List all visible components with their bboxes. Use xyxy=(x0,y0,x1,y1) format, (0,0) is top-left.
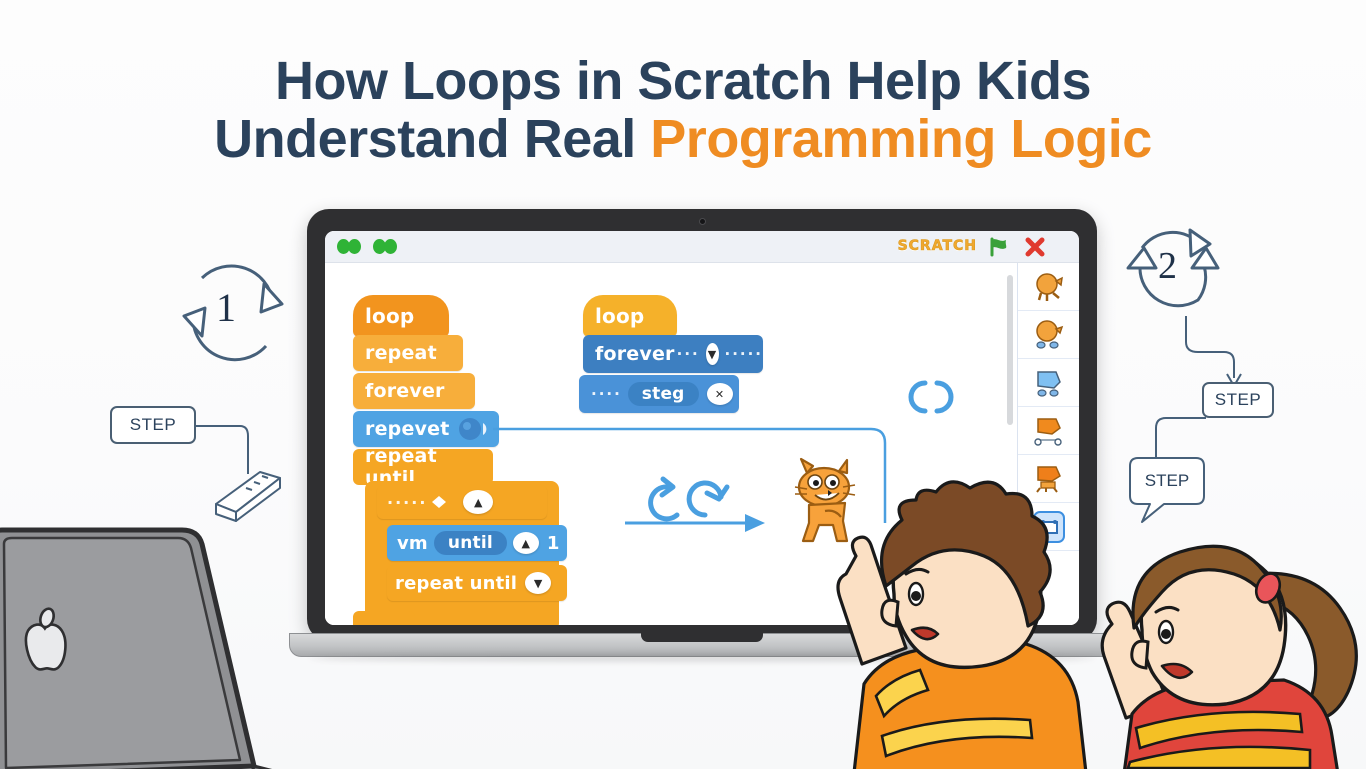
laptop-base-notch xyxy=(641,633,763,642)
brick-block-icon xyxy=(212,466,284,524)
sprite-item-cat-walking-1[interactable] xyxy=(1018,263,1079,311)
sprite-thumb-icon xyxy=(1032,272,1066,302)
loop-number-1: 1 xyxy=(216,284,236,331)
marker-glyph: ▼ xyxy=(534,577,543,590)
block-repevet[interactable]: repevet xyxy=(353,411,499,447)
block-forever-right[interactable]: forever ··· ▼ ····· xyxy=(583,335,763,373)
block-loop-hat-right[interactable]: loop xyxy=(583,295,677,337)
block-repeat[interactable]: repeat xyxy=(353,335,463,371)
diamond-icon xyxy=(431,495,447,509)
editor-toolbar: SCRATCH xyxy=(325,231,1079,263)
dashes-before: ··· xyxy=(677,345,700,363)
step-box-right: STEP xyxy=(1202,382,1274,418)
scratch-logo: SCRATCH xyxy=(898,238,977,254)
webcam-icon xyxy=(699,218,706,225)
window-dot-2[interactable] xyxy=(348,239,361,254)
sprite-item-cat-blue[interactable] xyxy=(1018,359,1079,407)
window-dots-group xyxy=(337,239,397,254)
sprite-item-cat-walking-2[interactable] xyxy=(1018,311,1079,359)
dashes-after: ····· xyxy=(725,345,764,363)
step-box-left: STEP xyxy=(110,406,196,444)
block-label: repeat xyxy=(353,342,437,364)
title-line-2-accent: Programming Logic xyxy=(650,109,1152,169)
block-label: loop xyxy=(353,304,414,328)
block-repeat-until-label-wrap: repeat until xyxy=(353,449,493,485)
marker-glyph: ▼ xyxy=(708,348,717,361)
step-connector-right-top xyxy=(1184,316,1264,392)
inner-dashes: ····· xyxy=(387,493,427,512)
loop-number-2: 2 xyxy=(1158,244,1177,288)
block-forever[interactable]: forever xyxy=(353,373,475,409)
sprite-thumb-icon xyxy=(1032,368,1066,398)
block-steg-right[interactable]: ···· steg ✕ xyxy=(579,375,739,413)
arrow-to-cat xyxy=(625,503,775,543)
block-label: loop xyxy=(583,304,644,328)
block-label: forever xyxy=(583,343,675,365)
sprite-thumb-icon xyxy=(1032,464,1066,494)
block-loop-hat[interactable]: loop xyxy=(353,295,449,337)
stop-sign-icon[interactable] xyxy=(1023,235,1047,259)
title-line-2-plain: Understand Real xyxy=(214,109,650,169)
character-girl-pointing xyxy=(1078,512,1366,769)
steg-pill[interactable]: steg xyxy=(628,382,699,406)
window-dot-4[interactable] xyxy=(384,239,397,254)
step-bubble-label: STEP xyxy=(1130,456,1204,506)
down-arrow-circle[interactable]: ▼ xyxy=(525,572,551,594)
close-circle-icon[interactable]: ✕ xyxy=(707,383,733,405)
block-label: repevet xyxy=(353,418,450,440)
dashes-before: ···· xyxy=(591,385,622,403)
marker-glyph: ✕ xyxy=(715,388,724,401)
character-boy-pointing xyxy=(820,498,1120,769)
repevet-knob-icon xyxy=(458,417,492,441)
sprite-thumb-icon xyxy=(1032,320,1066,350)
green-flag-icon[interactable] xyxy=(987,235,1011,259)
up-arrow-circle-1[interactable]: ▲ xyxy=(463,490,493,514)
macbook-device xyxy=(0,528,426,769)
page-title: How Loops in Scratch Help Kids Understan… xyxy=(0,52,1366,169)
sprite-item-cat-orange[interactable] xyxy=(1018,455,1079,503)
poster-canvas: How Loops in Scratch Help Kids Understan… xyxy=(0,0,1366,769)
dropdown-circle[interactable]: ▼ xyxy=(706,343,719,365)
loop-glyph-right xyxy=(897,375,967,419)
title-line-1: How Loops in Scratch Help Kids xyxy=(0,52,1366,110)
sprite-panel-scrollbar[interactable] xyxy=(1007,275,1013,425)
title-line-2: Understand Real Programming Logic xyxy=(0,110,1366,168)
block-label: forever xyxy=(353,380,445,402)
marker-glyph: ▲ xyxy=(474,496,483,509)
sprite-item-cat-scooter[interactable] xyxy=(1018,407,1079,455)
sprite-thumb-icon xyxy=(1032,416,1066,446)
